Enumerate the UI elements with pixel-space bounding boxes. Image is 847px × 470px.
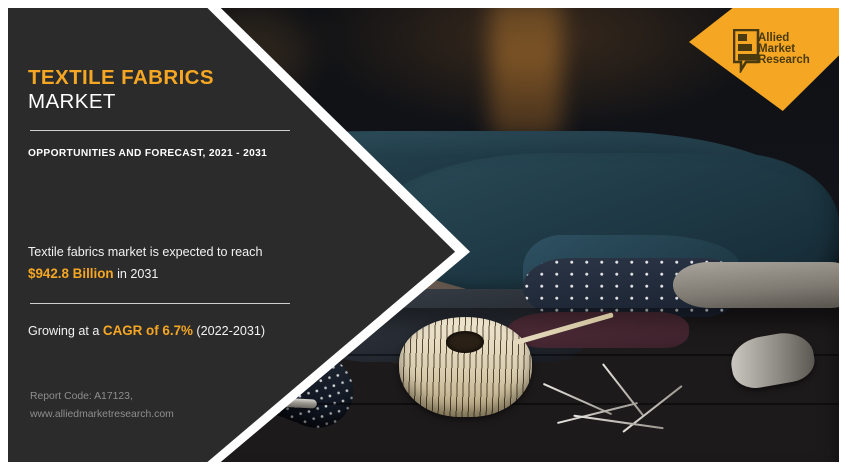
- market-size-statement: Textile fabrics market is expected to re…: [28, 242, 294, 285]
- market-size-prefix: Textile fabrics market is expected to re…: [28, 245, 262, 259]
- measuring-tape-center: [446, 331, 483, 353]
- website-url[interactable]: www.alliedmarketresearch.com: [30, 406, 296, 424]
- title-primary: TEXTILE FABRICS: [28, 66, 290, 90]
- report-summary: TEXTILE FABRICS MARKET OPPORTUNITIES AND…: [28, 8, 296, 462]
- market-size-suffix: in 2031: [114, 267, 159, 281]
- title-secondary: MARKET: [28, 90, 290, 114]
- cagr-period: (2022-2031): [193, 324, 265, 338]
- report-code: Report Code: A17123,: [30, 388, 296, 406]
- divider-bottom: [30, 303, 290, 304]
- page-title: TEXTILE FABRICS MARKET: [28, 66, 290, 114]
- cagr-prefix: Growing at a: [28, 324, 103, 338]
- fabric-light-grey: [673, 262, 839, 307]
- cagr-value: CAGR of 6.7%: [103, 323, 193, 338]
- measuring-tape-roll: [399, 317, 532, 417]
- allied-market-research-logo: Allied Market Research: [733, 29, 829, 73]
- report-subtitle: OPPORTUNITIES AND FORECAST, 2021 - 2031: [28, 146, 294, 163]
- cagr-statement: Growing at a CAGR of 6.7% (2022-2031): [28, 320, 294, 342]
- infographic-banner: TEXTILE FABRICS MARKET OPPORTUNITIES AND…: [0, 0, 847, 470]
- divider-top: [30, 130, 290, 131]
- logo-text-line3: Research: [758, 54, 810, 66]
- speech-bubble-bars-icon: [734, 30, 758, 70]
- report-meta: Report Code: A17123, www.alliedmarketres…: [30, 388, 296, 424]
- photo-bokeh-jar: [490, 8, 562, 139]
- market-size-value: $942.8 Billion: [28, 266, 114, 281]
